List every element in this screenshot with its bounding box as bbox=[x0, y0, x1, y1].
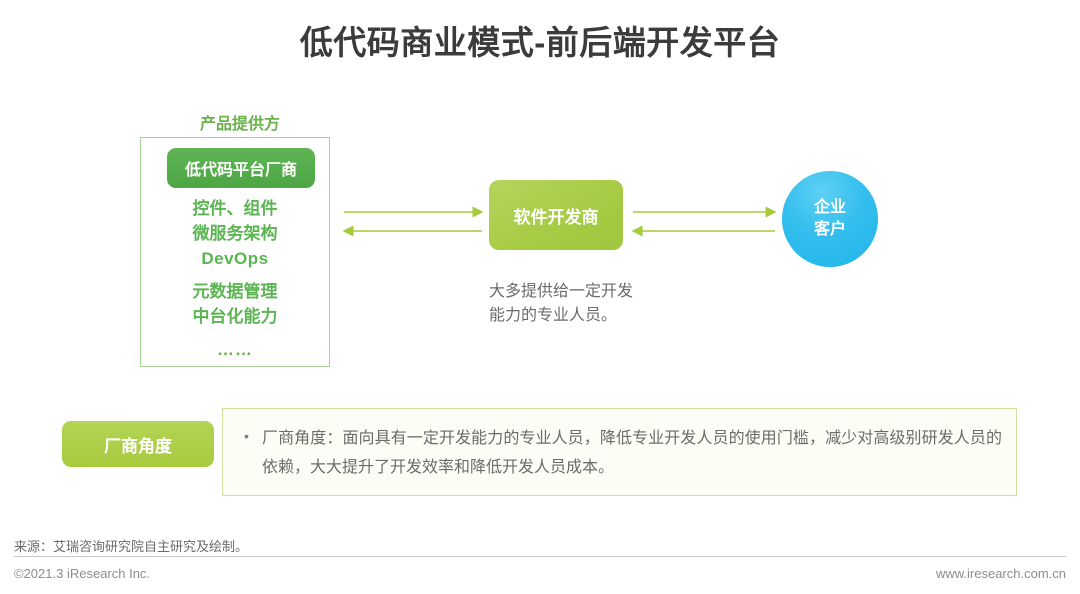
vendor-perspective-badge: 厂商角度 bbox=[62, 421, 214, 467]
flow-arrows bbox=[0, 0, 1080, 594]
footer-divider bbox=[14, 556, 1066, 557]
bullet-icon: • bbox=[244, 428, 249, 444]
slide-canvas: 低代码商业模式-前后端开发平台 产品提供方 低代码平台厂商 控件、组件 微服务架… bbox=[0, 0, 1080, 594]
copyright-text: ©2021.3 iResearch Inc. bbox=[14, 566, 150, 581]
source-note: 来源：艾瑞咨询研究院自主研究及绘制。 bbox=[14, 536, 248, 555]
website-link[interactable]: www.iresearch.com.cn bbox=[936, 566, 1066, 581]
vendor-perspective-text: 厂商角度：面向具有一定开发能力的专业人员，降低专业开发人员的使用门槛，减少对高级… bbox=[262, 424, 1002, 482]
